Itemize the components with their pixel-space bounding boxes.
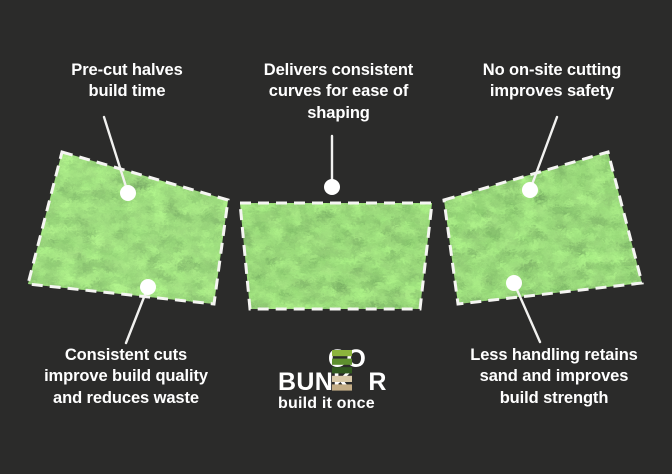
callout-dot-top-right[interactable]	[522, 182, 538, 198]
callout-dot-bottom-left[interactable]	[140, 279, 156, 295]
grass-panel-right	[440, 145, 655, 320]
logo-bar-3	[332, 367, 352, 373]
logo-bar-5	[332, 384, 352, 390]
logo-stacked-bars-icon	[332, 349, 352, 393]
callout-dot-top-middle[interactable]	[324, 179, 340, 195]
callout-text-bottom-left: Consistent cuts improve build quality an…	[16, 345, 236, 409]
callout-text-bottom-right: Less handling retains sand and improves …	[444, 345, 664, 409]
eco-bunker-logo[interactable]: CO BUNKER build it once	[266, 347, 416, 413]
logo-bar-2	[332, 359, 352, 365]
callout-text-top-right: No on-site cutting improves safety	[448, 60, 656, 103]
logo-tagline: build it once	[278, 396, 375, 412]
grass-panel-left	[20, 145, 240, 320]
logo-word-bunker-tail: R	[368, 368, 386, 396]
callout-text-top-middle: Delivers consistent curves for ease of s…	[236, 60, 441, 124]
grass-panel-middle	[235, 198, 440, 316]
callout-text-top-left: Pre-cut halves build time	[22, 60, 232, 103]
logo-bar-1	[332, 350, 352, 356]
logo-bar-4	[332, 376, 352, 382]
infographic-canvas: Pre-cut halves build time Delivers consi…	[0, 0, 672, 474]
callout-dot-top-left[interactable]	[120, 185, 136, 201]
callout-dot-bottom-right[interactable]	[506, 275, 522, 291]
